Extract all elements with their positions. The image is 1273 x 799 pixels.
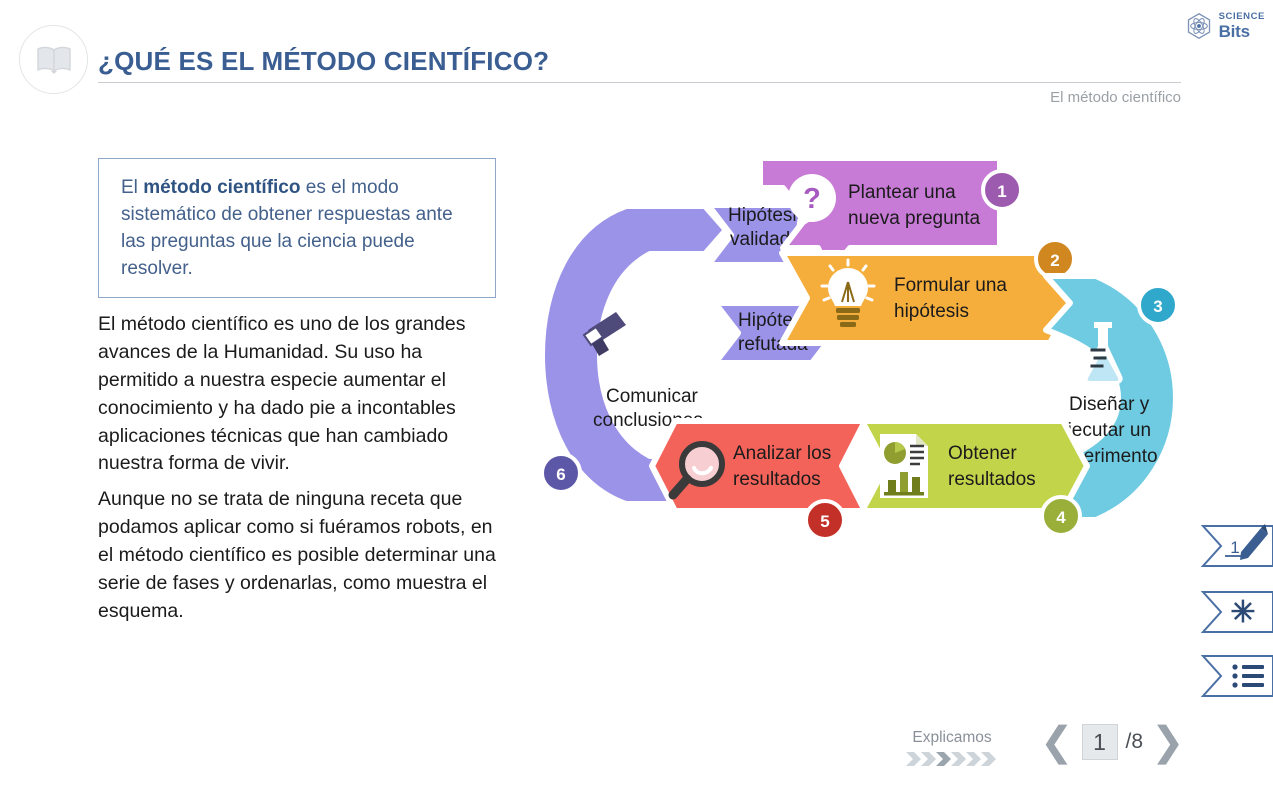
page-navigation: ❮ 1 /8 ❯ bbox=[1040, 722, 1185, 762]
notes-tab[interactable]: 1 bbox=[1195, 520, 1273, 580]
step-5-line1: Analizar los bbox=[733, 443, 831, 464]
step-2-number: 2 bbox=[1050, 251, 1059, 270]
step-4-number: 4 bbox=[1056, 508, 1066, 527]
diagram-step-2[interactable]: Formular una hipótesis 2 bbox=[782, 240, 1075, 343]
atom-hexagon-icon bbox=[1185, 12, 1213, 40]
step-1-line2: nueva pregunta bbox=[848, 208, 980, 229]
page-total: /8 bbox=[1126, 730, 1144, 754]
report-chart-icon bbox=[880, 434, 928, 498]
step-5-number: 5 bbox=[820, 512, 829, 531]
step-2-line1: Formular una bbox=[894, 275, 1007, 296]
chevron-right-icon[interactable]: ❯ bbox=[1151, 722, 1185, 762]
step-2-line2: hipótesis bbox=[894, 301, 969, 322]
definition-callout: El método científico es el modo sistemát… bbox=[98, 158, 496, 298]
step-4-line1: Obtener bbox=[948, 443, 1017, 464]
scientific-method-cycle-diagram: Comunicar conclusiones 6 Hipótesis valid… bbox=[530, 148, 1210, 563]
brand-line1: SCIENCE bbox=[1219, 12, 1265, 22]
list-icon bbox=[1232, 664, 1264, 687]
callout-bold-term: método científico bbox=[143, 177, 300, 198]
highlights-tab[interactable]: ✳ bbox=[1195, 584, 1273, 644]
step-3-line1: Diseñar y bbox=[1069, 394, 1150, 415]
step-6-number: 6 bbox=[556, 465, 565, 484]
step-1-line1: Plantear una bbox=[848, 182, 956, 203]
step-5-line2: resultados bbox=[733, 469, 821, 490]
step-1-number: 1 bbox=[997, 182, 1006, 201]
body-paragraph-2: Aunque no se trata de ninguna receta que… bbox=[98, 486, 503, 625]
index-tab[interactable] bbox=[1195, 648, 1273, 708]
step-3-number: 3 bbox=[1153, 297, 1162, 316]
body-paragraph-1: El método científico es uno de los grand… bbox=[98, 311, 503, 478]
chevron-left-icon[interactable]: ❮ bbox=[1040, 722, 1074, 762]
section-indicator: Explicamos bbox=[905, 729, 999, 767]
slide-page: ¿QUÉ ES EL MÉTODO CIENTÍFICO? El método … bbox=[0, 0, 1273, 799]
brand-logo: SCIENCE Bits bbox=[1185, 12, 1265, 40]
open-book-icon bbox=[19, 25, 88, 94]
unit-subtitle: El método científico bbox=[1050, 89, 1181, 106]
notes-tab-label: 1 bbox=[1230, 538, 1239, 557]
page-number-input[interactable]: 1 bbox=[1082, 724, 1118, 760]
asterisk-icon: ✳ bbox=[1230, 596, 1255, 629]
svg-text:?: ? bbox=[803, 183, 821, 215]
diagram-step-5[interactable]: Analizar los resultados 5 bbox=[652, 421, 865, 539]
section-progress-chevrons bbox=[905, 751, 999, 767]
diagram-step-4[interactable]: Obtener resultados 4 bbox=[862, 421, 1087, 535]
step-4-line2: resultados bbox=[948, 469, 1036, 490]
section-label: Explicamos bbox=[905, 729, 999, 747]
step-6-line1: Comunicar bbox=[606, 386, 699, 407]
brand-line2: Bits bbox=[1219, 23, 1265, 40]
callout-lead: El bbox=[121, 177, 143, 198]
page-title: ¿QUÉ ES EL MÉTODO CIENTÍFICO? bbox=[98, 46, 549, 77]
title-divider bbox=[98, 82, 1181, 83]
tool-tabs: 1 ✳ bbox=[1195, 520, 1273, 712]
